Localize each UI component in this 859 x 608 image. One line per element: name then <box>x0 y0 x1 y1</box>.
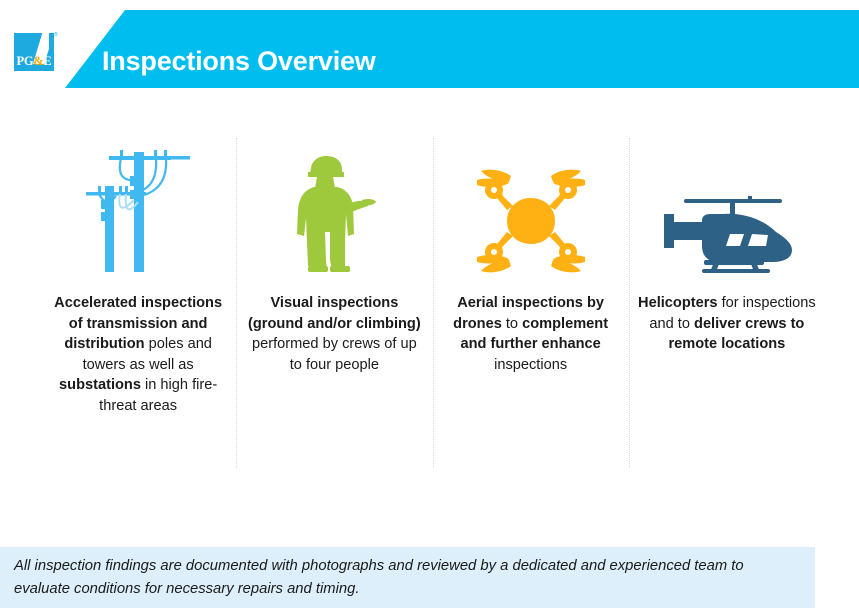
description-emphasis: substations <box>59 377 141 393</box>
footer-callout-banner: All inspection findings are documented w… <box>0 547 815 608</box>
description-plain: to <box>502 316 522 332</box>
logo-pg: PG <box>17 54 34 68</box>
column-visual-inspections: Visual inspections (ground and/or climbi… <box>236 130 432 475</box>
worker-silhouette-icon <box>236 130 432 280</box>
description-emphasis: Visual inspections (ground and/or climbi… <box>248 295 421 332</box>
column-description: Helicopters for inspections and to deliv… <box>638 280 816 355</box>
logo-wordmark: PG&E <box>14 54 54 68</box>
slide-canvas: PG&E ® Inspections Overview <box>0 0 859 608</box>
helicopter-icon <box>629 130 825 280</box>
column-aerial-drones: Aerial inspections by drones to compleme… <box>433 130 629 475</box>
utility-poles-icon <box>40 130 236 280</box>
column-description: Visual inspections (ground and/or climbi… <box>245 280 423 375</box>
drone-icon <box>433 130 629 280</box>
logo-e: E <box>43 54 51 68</box>
footer-callout-text: All inspection findings are documented w… <box>0 555 815 601</box>
description-plain: performed by crews of up to four people <box>252 336 417 373</box>
page-title: Inspections Overview <box>102 46 376 77</box>
inspection-columns: Accelerated inspections of transmission … <box>40 130 825 475</box>
column-helicopters: Helicopters for inspections and to deliv… <box>629 130 825 475</box>
description-plain: inspections <box>494 357 567 373</box>
pge-logo: PG&E ® <box>14 30 58 74</box>
column-description: Aerial inspections by drones to compleme… <box>442 280 620 375</box>
description-emphasis: Helicopters <box>638 295 717 311</box>
column-description: Accelerated inspections of transmission … <box>49 280 227 417</box>
logo-ampersand: & <box>33 54 43 68</box>
logo-trademark: ® <box>54 32 58 38</box>
column-transmission-distribution: Accelerated inspections of transmission … <box>40 130 236 475</box>
